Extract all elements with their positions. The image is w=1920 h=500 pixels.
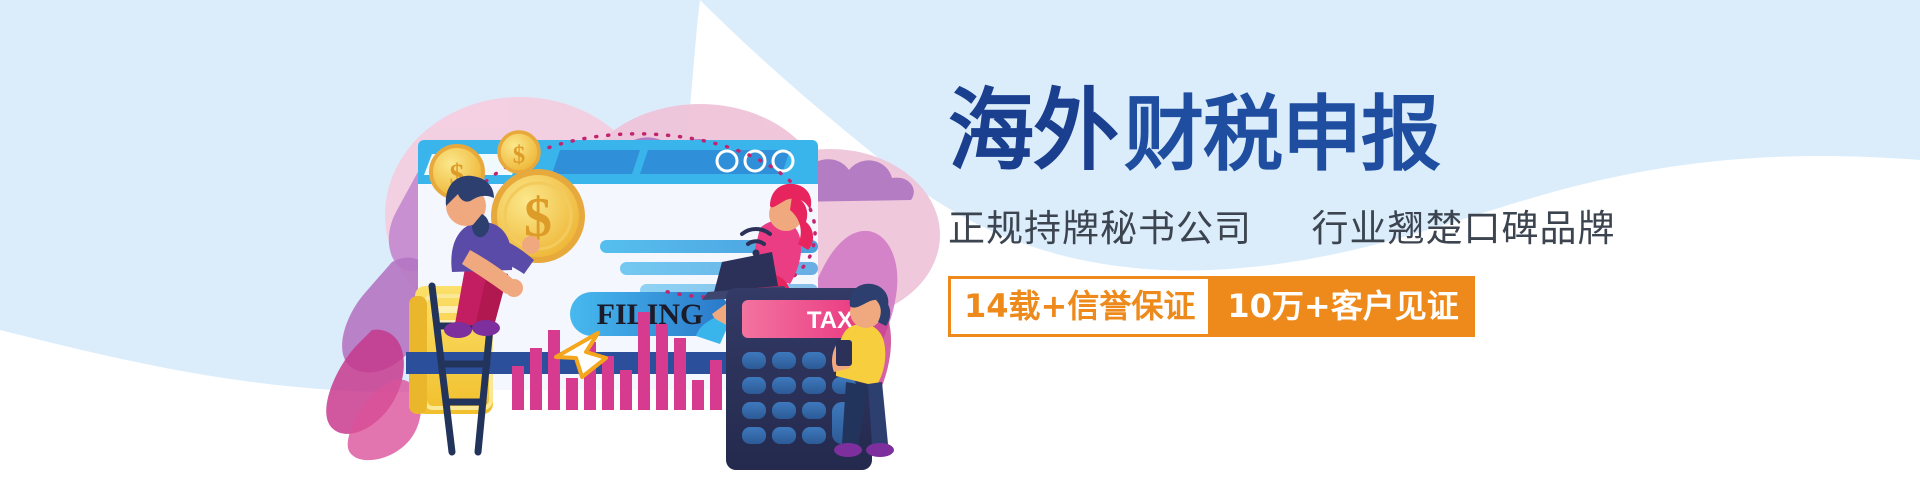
- copy-block: 海外 财税申报 正规持牌秘书公司 行业翘楚口碑品牌 14载+信誉保证 10万+客…: [948, 78, 1748, 418]
- subtitle-left: 正规持牌秘书公司: [948, 207, 1252, 250]
- badge-credibility: 14载+信誉保证: [948, 276, 1211, 337]
- subtitle-right: 行业翘楚口碑品牌: [1312, 207, 1616, 250]
- coin-small-2: $: [499, 132, 539, 172]
- headline-secondary: 财税申报: [1124, 94, 1440, 176]
- badge-customers: 10万+客户见证: [1211, 276, 1474, 337]
- headline: 海外 财税申报: [948, 78, 1748, 176]
- headline-primary: 海外: [948, 87, 1118, 176]
- subtitle: 正规持牌秘书公司 行业翘楚口碑品牌: [948, 198, 1748, 252]
- promotional-banner: FILING $ $ $: [0, 0, 1920, 500]
- svg-text:$: $: [513, 142, 526, 169]
- badge-row: 14载+信誉保证 10万+客户见证: [948, 276, 1748, 337]
